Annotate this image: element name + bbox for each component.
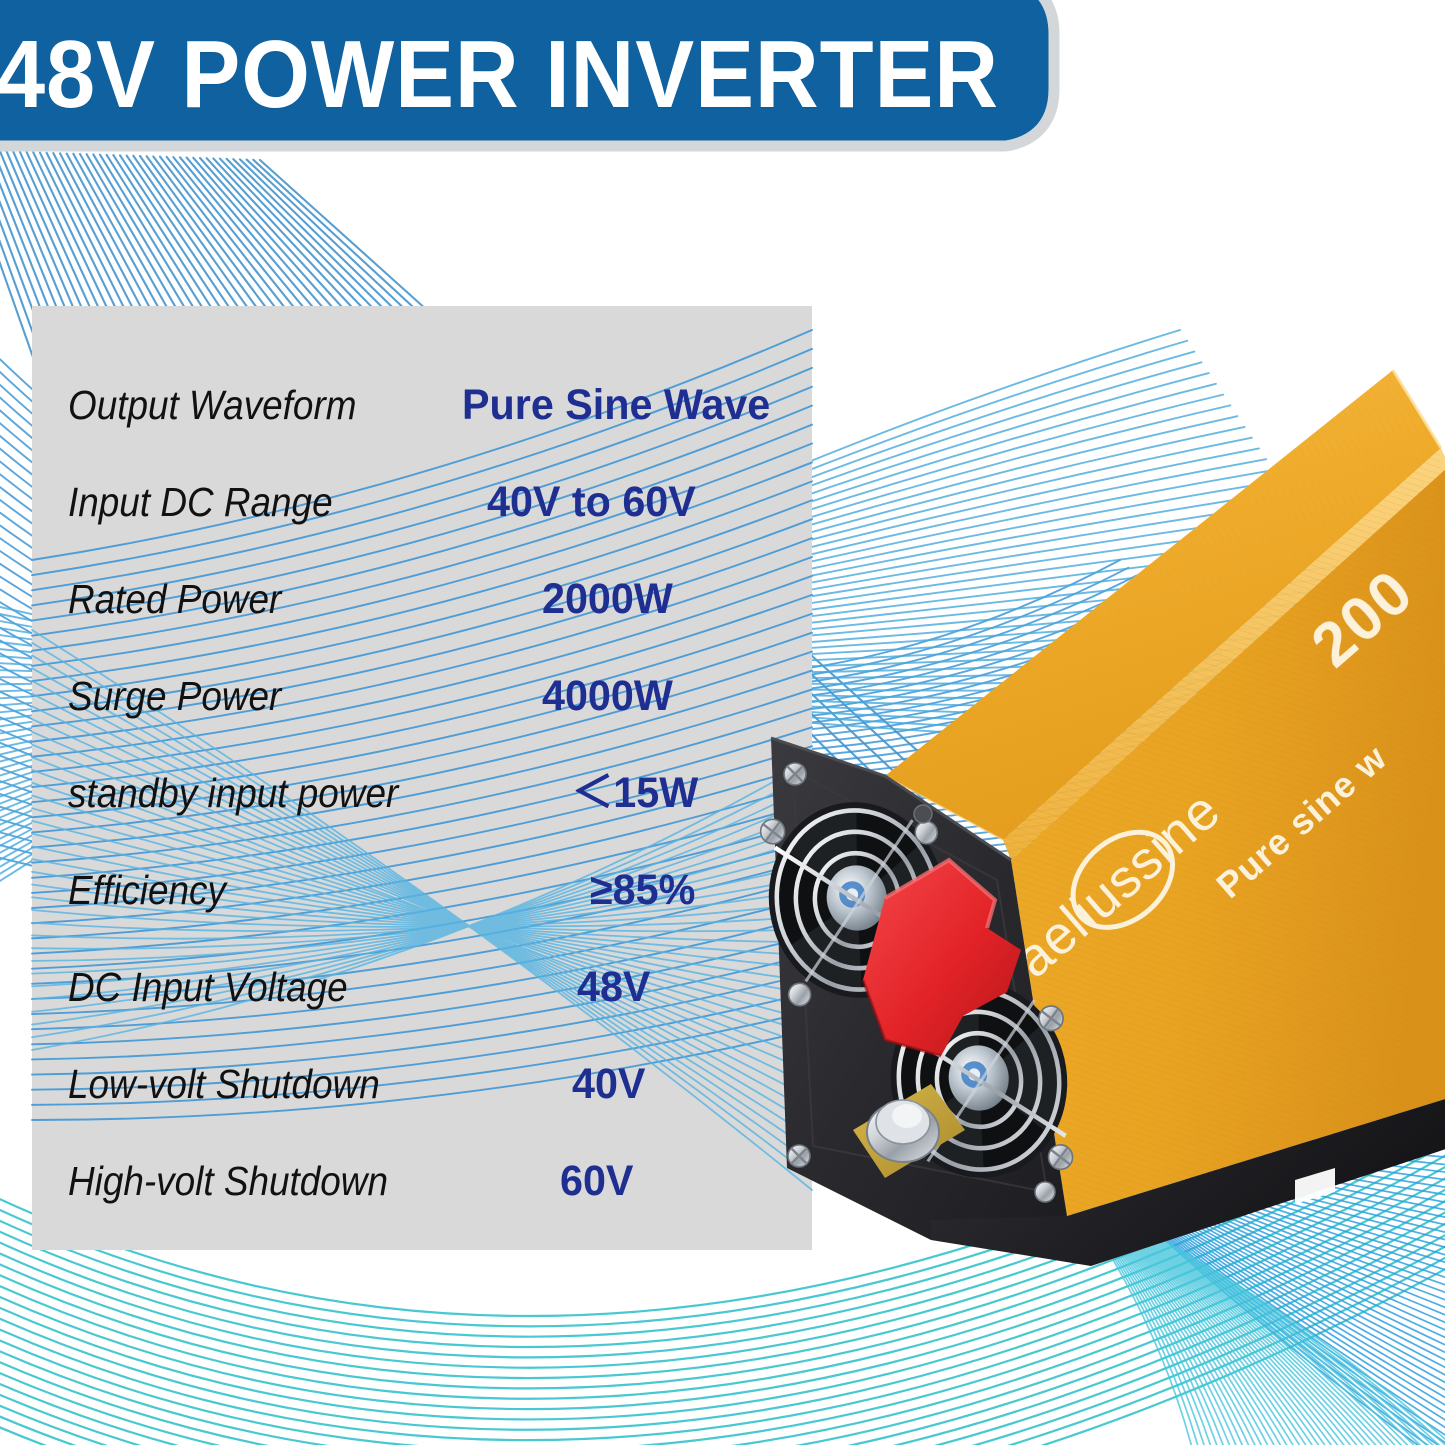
page-title: 48V POWER INVERTER <box>0 20 953 130</box>
infographic-canvas: 48V POWER INVERTER Output WaveformPure S… <box>0 0 1445 1445</box>
spec-label: Input DC Range <box>68 482 333 523</box>
spec-label: Output Waveform <box>68 385 356 426</box>
spec-value: 2000W <box>542 578 673 621</box>
spec-row: Efficiency≥85% <box>32 853 812 927</box>
spec-row: Rated Power2000W <box>32 562 812 636</box>
spec-row: Output WaveformPure Sine Wave <box>32 368 812 442</box>
spec-label: Low-volt Shutdown <box>68 1064 380 1105</box>
spec-row: Input DC Range40V to 60V <box>32 465 812 539</box>
spec-value: 4000W <box>542 675 673 718</box>
product-photo-inverter: aeliussine Pure sine w 200 <box>735 340 1445 1270</box>
spec-table: Output WaveformPure Sine WaveInput DC Ra… <box>32 306 812 1250</box>
spec-row: standby input power＜15W <box>32 756 812 830</box>
spec-label: Surge Power <box>68 676 281 717</box>
spec-value: ＜15W <box>572 772 698 815</box>
spec-label: Efficiency <box>68 870 226 911</box>
spec-value: 40V <box>572 1063 645 1106</box>
spec-value: 60V <box>560 1160 633 1203</box>
spec-label: standby input power <box>68 773 398 814</box>
spec-label: Rated Power <box>68 579 281 620</box>
spec-value: 48V <box>577 966 650 1009</box>
spec-row: DC Input Voltage48V <box>32 950 812 1024</box>
spec-value: 40V to 60V <box>487 481 696 524</box>
spec-label: High-volt Shutdown <box>68 1161 388 1202</box>
spec-value: Pure Sine Wave <box>462 384 770 427</box>
spec-row: Low-volt Shutdown40V <box>32 1047 812 1121</box>
spec-label: DC Input Voltage <box>68 967 348 1008</box>
spec-row: High-volt Shutdown60V <box>32 1144 812 1218</box>
spec-value: ≥85% <box>590 869 695 912</box>
spec-row: Surge Power4000W <box>32 659 812 733</box>
